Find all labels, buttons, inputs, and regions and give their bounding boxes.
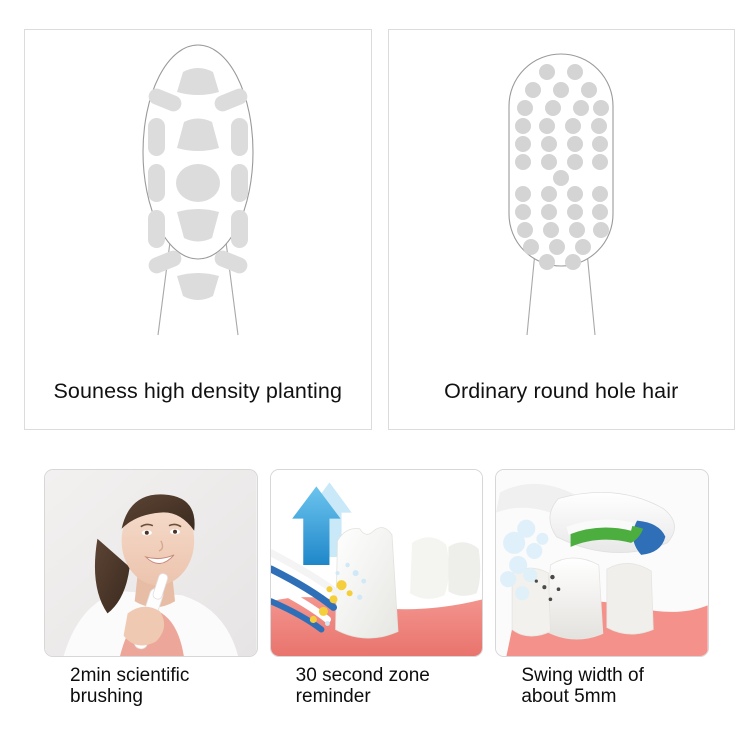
woman-holding-electric-toothbrush-photo	[44, 469, 258, 657]
comparison-panel-souness: Souness high density planting	[24, 29, 372, 430]
ordinary-figure-area	[389, 30, 735, 353]
feature-card-swing-width: Swing width of about 5mm	[495, 469, 709, 731]
feature-cards-row: 2min scientific brushing	[44, 469, 709, 731]
souness-figure-area	[25, 30, 371, 353]
caption-line-2: reminder	[296, 687, 484, 708]
brush-head-over-teeth-water-spray-photo	[495, 469, 709, 657]
caption-line-2: brushing	[70, 687, 258, 708]
feature-caption-thirty-second-zone: 30 second zone reminder	[270, 666, 484, 707]
tooth-cleaning-illustration	[271, 470, 483, 656]
comparison-panel-ordinary: Ordinary round hole hair	[388, 29, 736, 430]
ordinary-caption: Ordinary round hole hair	[389, 353, 735, 429]
product-infographic-page: Souness high density planting	[0, 0, 750, 750]
caption-line-1: 2min scientific	[70, 666, 258, 687]
feature-caption-two-minute-brushing: 2min scientific brushing	[44, 666, 258, 707]
caption-line-1: 30 second zone	[296, 666, 484, 687]
feature-card-thirty-second-zone: 30 second zone reminder	[270, 469, 484, 731]
woman-photo-illustration	[45, 470, 257, 656]
feature-card-two-minute-brushing: 2min scientific brushing	[44, 469, 258, 731]
souness-caption: Souness high density planting	[25, 353, 371, 429]
feature-caption-swing-width: Swing width of about 5mm	[495, 666, 709, 707]
caption-line-2: about 5mm	[521, 687, 709, 708]
brush-head-round-hole-diagram	[461, 30, 661, 340]
swing-width-illustration	[496, 470, 708, 656]
caption-line-1: Swing width of	[521, 666, 709, 687]
brush-head-high-density-diagram	[98, 30, 298, 340]
tooth-gum-bristle-cleaning-illustration	[270, 469, 484, 657]
brush-head-comparison-row: Souness high density planting	[24, 29, 735, 430]
